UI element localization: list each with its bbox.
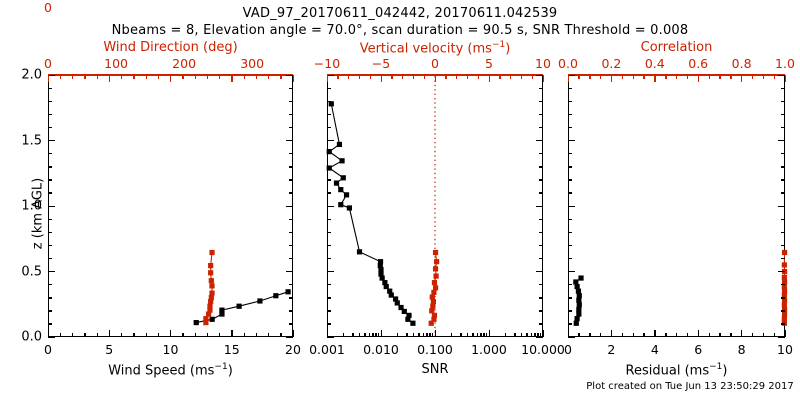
x-tick-bottom bbox=[268, 333, 269, 337]
y-tick bbox=[539, 192, 543, 193]
x-tick-bottom bbox=[477, 333, 478, 337]
x-tick-top bbox=[698, 75, 699, 82]
x-tick-bottom bbox=[687, 333, 688, 337]
x-tick-top bbox=[391, 75, 392, 79]
y-tick bbox=[48, 284, 52, 285]
y-tick bbox=[781, 179, 785, 180]
y-tick bbox=[568, 114, 572, 115]
x-tick-bottom bbox=[133, 333, 134, 337]
y-tick bbox=[286, 206, 293, 207]
y-tick bbox=[539, 297, 543, 298]
x-tick-bottom bbox=[521, 333, 522, 337]
x-tick-top bbox=[72, 75, 73, 79]
x-tick-bottom bbox=[375, 333, 376, 337]
y-tick bbox=[539, 153, 543, 154]
y-tick bbox=[568, 297, 572, 298]
x-tick-label-bottom: 10.000 bbox=[521, 342, 565, 357]
y-tick bbox=[568, 258, 572, 259]
y-tick bbox=[568, 166, 572, 167]
y-tick bbox=[327, 166, 331, 167]
x-tick-bottom bbox=[741, 330, 742, 337]
x-tick-top bbox=[785, 75, 786, 82]
y-tick bbox=[781, 153, 785, 154]
y-tick bbox=[286, 271, 293, 272]
x-tick-bottom bbox=[709, 333, 710, 337]
y-tick bbox=[48, 140, 55, 141]
y-tick bbox=[289, 166, 293, 167]
y-tick-label: 1.5 bbox=[6, 133, 42, 148]
x-tick-top bbox=[182, 75, 183, 79]
x-tick-bottom bbox=[109, 330, 110, 337]
x-axis-title-bottom: Residual (ms−1) bbox=[626, 362, 728, 378]
y-tick bbox=[289, 101, 293, 102]
x-tick-bottom bbox=[622, 333, 623, 337]
x-tick-label-top: 0.4 bbox=[645, 56, 665, 71]
x-tick-top bbox=[622, 75, 623, 79]
x-tick-label-top: 0 bbox=[44, 0, 52, 15]
x-tick-top bbox=[231, 75, 232, 82]
x-tick-bottom bbox=[654, 330, 655, 337]
x-tick-top bbox=[121, 75, 122, 79]
y-tick bbox=[48, 166, 52, 167]
x-tick-top bbox=[413, 75, 414, 79]
y-tick bbox=[289, 127, 293, 128]
y-tick bbox=[327, 75, 334, 76]
y-tick bbox=[539, 101, 543, 102]
y-tick bbox=[327, 192, 331, 193]
y-tick bbox=[539, 127, 543, 128]
y-tick bbox=[568, 206, 575, 207]
x-tick-bottom bbox=[730, 333, 731, 337]
x-tick-label-top: 100 bbox=[104, 56, 128, 71]
y-tick bbox=[781, 114, 785, 115]
x-tick-bottom bbox=[397, 333, 398, 337]
x-tick-top bbox=[268, 75, 269, 79]
y-tick bbox=[327, 284, 331, 285]
y-tick bbox=[568, 179, 572, 180]
x-tick-bottom bbox=[244, 333, 245, 337]
x-tick-bottom bbox=[219, 333, 220, 337]
x-tick-bottom bbox=[432, 333, 433, 337]
x-tick-bottom bbox=[381, 330, 382, 337]
x-tick-bottom bbox=[327, 330, 328, 337]
x-tick-top bbox=[499, 75, 500, 79]
y-tick bbox=[327, 245, 331, 246]
x-tick-bottom bbox=[60, 333, 61, 337]
x-tick-bottom bbox=[372, 333, 373, 337]
y-tick bbox=[48, 271, 55, 272]
y-tick bbox=[48, 127, 52, 128]
y-tick bbox=[781, 310, 785, 311]
x-tick-top bbox=[478, 75, 479, 79]
y-tick bbox=[781, 258, 785, 259]
x-tick-top bbox=[643, 75, 644, 79]
x-tick-top bbox=[60, 75, 61, 79]
panel-residual bbox=[568, 75, 785, 337]
x-tick-bottom bbox=[413, 333, 414, 337]
y-tick bbox=[781, 88, 785, 89]
x-tick-top bbox=[467, 75, 468, 79]
x-tick-top bbox=[568, 75, 569, 82]
x-tick-bottom bbox=[600, 333, 601, 337]
y-tick bbox=[327, 323, 331, 324]
y-tick bbox=[568, 219, 572, 220]
x-tick-top bbox=[280, 75, 281, 79]
x-tick-bottom bbox=[207, 333, 208, 337]
y-tick bbox=[568, 284, 572, 285]
y-tick bbox=[781, 232, 785, 233]
x-tick-bottom bbox=[467, 333, 468, 337]
y-tick bbox=[289, 192, 293, 193]
x-tick-top bbox=[532, 75, 533, 79]
x-tick-bottom bbox=[352, 333, 353, 337]
x-tick-top bbox=[424, 75, 425, 79]
y-tick bbox=[778, 271, 785, 272]
x-tick-top bbox=[146, 75, 147, 79]
x-axis-title-bottom: SNR bbox=[421, 362, 448, 377]
x-tick-label-top: 1.0 bbox=[775, 56, 795, 71]
y-tick bbox=[327, 127, 331, 128]
x-tick-label-bottom: 6 bbox=[694, 342, 702, 357]
y-tick bbox=[781, 192, 785, 193]
x-tick-top bbox=[763, 75, 764, 79]
y-tick bbox=[48, 101, 52, 102]
x-tick-top bbox=[456, 75, 457, 79]
y-tick bbox=[289, 88, 293, 89]
y-tick-label: 1.0 bbox=[6, 199, 42, 214]
x-tick-bottom bbox=[752, 333, 753, 337]
x-tick-top bbox=[687, 75, 688, 79]
x-tick-top bbox=[48, 75, 49, 82]
x-tick-label-bottom: 0.010 bbox=[363, 342, 399, 357]
x-tick-bottom bbox=[378, 333, 379, 337]
x-tick-top bbox=[510, 75, 511, 79]
x-tick-top bbox=[578, 75, 579, 79]
x-tick-bottom bbox=[676, 333, 677, 337]
y-tick bbox=[536, 271, 543, 272]
x-tick-bottom bbox=[486, 333, 487, 337]
x-tick-label-bottom: 5 bbox=[105, 342, 113, 357]
x-tick-bottom bbox=[589, 333, 590, 337]
x-tick-top bbox=[158, 75, 159, 79]
y-tick bbox=[781, 101, 785, 102]
x-tick-bottom bbox=[785, 330, 786, 337]
y-tick bbox=[327, 153, 331, 154]
y-tick bbox=[327, 232, 331, 233]
y-tick bbox=[48, 337, 55, 338]
y-tick bbox=[568, 127, 572, 128]
y-tick bbox=[781, 245, 785, 246]
x-tick-top bbox=[676, 75, 677, 79]
x-axis-title-top: Vertical velocity (ms−1) bbox=[360, 40, 511, 56]
x-tick-top bbox=[709, 75, 710, 79]
x-tick-bottom bbox=[195, 333, 196, 337]
y-tick bbox=[48, 75, 55, 76]
y-tick bbox=[289, 153, 293, 154]
x-tick-bottom bbox=[505, 333, 506, 337]
y-tick bbox=[539, 166, 543, 167]
x-tick-bottom bbox=[460, 333, 461, 337]
y-tick bbox=[781, 127, 785, 128]
x-tick-label-bottom: 2 bbox=[607, 342, 615, 357]
y-tick-label: 0.5 bbox=[6, 264, 42, 279]
y-tick bbox=[539, 323, 543, 324]
x-tick-bottom bbox=[293, 330, 294, 337]
y-tick bbox=[539, 114, 543, 115]
x-tick-label-bottom: 0 bbox=[564, 342, 572, 357]
x-tick-top bbox=[84, 75, 85, 79]
x-tick-top bbox=[244, 75, 245, 79]
x-tick-label-top: 10 bbox=[535, 56, 551, 71]
x-tick-bottom bbox=[231, 330, 232, 337]
x-tick-bottom bbox=[364, 333, 365, 337]
y-tick bbox=[48, 179, 52, 180]
x-tick-bottom bbox=[763, 333, 764, 337]
x-tick-top bbox=[170, 75, 171, 82]
x-tick-bottom bbox=[665, 333, 666, 337]
x-tick-bottom bbox=[343, 333, 344, 337]
y-tick bbox=[327, 337, 334, 338]
x-tick-top bbox=[359, 75, 360, 79]
x-tick-bottom bbox=[774, 333, 775, 337]
x-tick-top bbox=[109, 75, 110, 82]
x-tick-bottom bbox=[698, 330, 699, 337]
x-tick-top bbox=[752, 75, 753, 79]
y-tick bbox=[568, 323, 572, 324]
x-tick-bottom bbox=[158, 333, 159, 337]
x-tick-bottom bbox=[540, 333, 541, 337]
x-tick-bottom bbox=[418, 333, 419, 337]
x-tick-bottom bbox=[514, 333, 515, 337]
x-tick-bottom bbox=[534, 333, 535, 337]
x-tick-top bbox=[489, 75, 490, 82]
y-tick bbox=[539, 245, 543, 246]
y-tick bbox=[327, 88, 331, 89]
y-tick-label: 2.0 bbox=[6, 68, 42, 83]
x-tick-top bbox=[774, 75, 775, 79]
x-tick-bottom bbox=[429, 333, 430, 337]
y-tick bbox=[48, 245, 52, 246]
x-tick-label-top: 0.6 bbox=[688, 56, 708, 71]
x-tick-top bbox=[633, 75, 634, 79]
y-tick bbox=[289, 219, 293, 220]
x-tick-top bbox=[435, 75, 436, 82]
y-tick bbox=[289, 323, 293, 324]
x-tick-top bbox=[741, 75, 742, 82]
y-tick bbox=[327, 310, 331, 311]
x-tick-label-top: 0 bbox=[44, 56, 52, 71]
x-tick-bottom bbox=[531, 333, 532, 337]
x-tick-label-bottom: 10 bbox=[163, 342, 179, 357]
x-tick-bottom bbox=[146, 333, 147, 337]
x-tick-bottom bbox=[483, 333, 484, 337]
x-tick-label-top: 0.2 bbox=[601, 56, 621, 71]
x-tick-top bbox=[445, 75, 446, 79]
y-tick bbox=[48, 297, 52, 298]
y-tick bbox=[327, 297, 331, 298]
y-tick bbox=[327, 271, 334, 272]
x-tick-top bbox=[719, 75, 720, 79]
x-tick-top bbox=[611, 75, 612, 82]
y-tick bbox=[48, 232, 52, 233]
y-tick bbox=[568, 271, 575, 272]
y-tick bbox=[48, 323, 52, 324]
y-tick bbox=[539, 219, 543, 220]
y-tick bbox=[539, 179, 543, 180]
x-tick-bottom bbox=[359, 333, 360, 337]
y-tick bbox=[48, 310, 52, 311]
x-tick-bottom bbox=[48, 330, 49, 337]
x-tick-bottom bbox=[121, 333, 122, 337]
y-tick bbox=[568, 232, 572, 233]
y-tick bbox=[327, 219, 331, 220]
y-tick bbox=[327, 101, 331, 102]
y-tick bbox=[48, 114, 52, 115]
x-tick-top bbox=[327, 75, 328, 82]
x-tick-top bbox=[589, 75, 590, 79]
y-tick bbox=[568, 88, 572, 89]
x-tick-bottom bbox=[611, 330, 612, 337]
y-tick bbox=[539, 88, 543, 89]
y-tick bbox=[48, 88, 52, 89]
x-tick-top bbox=[256, 75, 257, 79]
x-tick-top bbox=[219, 75, 220, 79]
x-tick-top bbox=[133, 75, 134, 79]
x-tick-top bbox=[207, 75, 208, 79]
x-tick-top bbox=[348, 75, 349, 79]
x-tick-bottom bbox=[543, 330, 544, 337]
x-tick-top bbox=[381, 75, 382, 82]
x-tick-bottom bbox=[97, 333, 98, 337]
y-tick bbox=[327, 179, 331, 180]
x-tick-bottom bbox=[406, 333, 407, 337]
x-tick-label-bottom: 4 bbox=[651, 342, 659, 357]
y-tick bbox=[289, 179, 293, 180]
y-tick bbox=[781, 323, 785, 324]
y-tick bbox=[781, 297, 785, 298]
y-tick bbox=[781, 284, 785, 285]
x-tick-top bbox=[195, 75, 196, 79]
x-axis-title-top: Wind Direction (deg) bbox=[103, 40, 237, 55]
y-tick bbox=[536, 140, 543, 141]
y-tick bbox=[289, 284, 293, 285]
y-tick bbox=[568, 75, 575, 76]
x-tick-label-top: 0.0 bbox=[558, 56, 578, 71]
x-tick-bottom bbox=[719, 333, 720, 337]
x-tick-top bbox=[370, 75, 371, 79]
x-tick-bottom bbox=[643, 333, 644, 337]
x-tick-bottom bbox=[578, 333, 579, 337]
y-tick bbox=[778, 206, 785, 207]
x-tick-label-top: 0 bbox=[431, 56, 439, 71]
y-tick bbox=[327, 258, 331, 259]
x-tick-label-top: 5 bbox=[485, 56, 493, 71]
y-tick bbox=[48, 206, 55, 207]
y-tick bbox=[568, 153, 572, 154]
plot-created-timestamp: Plot created on Tue Jun 13 23:50:29 2017 bbox=[586, 381, 793, 392]
panel-wind bbox=[48, 75, 293, 337]
y-tick bbox=[327, 140, 334, 141]
x-tick-bottom bbox=[426, 333, 427, 337]
x-tick-top bbox=[730, 75, 731, 79]
page-title: VAD_97_20170611_042442, 20170611.042539 bbox=[243, 6, 558, 21]
x-tick-label-bottom: 0 bbox=[44, 342, 52, 357]
x-tick-label-top: −10 bbox=[314, 56, 340, 71]
x-tick-bottom bbox=[369, 333, 370, 337]
x-tick-bottom bbox=[170, 330, 171, 337]
y-tick bbox=[289, 114, 293, 115]
x-tick-bottom bbox=[472, 333, 473, 337]
y-tick bbox=[568, 310, 572, 311]
y-tick bbox=[539, 284, 543, 285]
y-tick bbox=[539, 310, 543, 311]
x-tick-label-bottom: 15 bbox=[224, 342, 240, 357]
x-tick-bottom bbox=[280, 333, 281, 337]
y-tick bbox=[48, 219, 52, 220]
x-tick-label-bottom: 1.000 bbox=[471, 342, 507, 357]
x-tick-label-bottom: 20 bbox=[285, 342, 301, 357]
y-tick bbox=[781, 219, 785, 220]
y-tick bbox=[289, 232, 293, 233]
x-tick-bottom bbox=[256, 333, 257, 337]
x-tick-bottom bbox=[435, 330, 436, 337]
y-tick bbox=[289, 297, 293, 298]
x-tick-bottom bbox=[480, 333, 481, 337]
x-tick-top bbox=[654, 75, 655, 82]
x-tick-label-top: 200 bbox=[172, 56, 196, 71]
y-tick bbox=[568, 140, 575, 141]
y-tick bbox=[568, 245, 572, 246]
y-tick bbox=[286, 140, 293, 141]
x-tick-top bbox=[600, 75, 601, 79]
x-tick-top bbox=[543, 75, 544, 82]
y-tick bbox=[48, 153, 52, 154]
y-tick-label: 0.0 bbox=[6, 330, 42, 345]
panel-snr bbox=[327, 75, 543, 337]
y-tick bbox=[327, 206, 334, 207]
x-tick-label-top: 300 bbox=[240, 56, 264, 71]
x-tick-bottom bbox=[72, 333, 73, 337]
x-tick-label-top: −5 bbox=[372, 56, 390, 71]
x-tick-top bbox=[521, 75, 522, 79]
x-tick-top bbox=[293, 75, 294, 82]
x-tick-bottom bbox=[451, 333, 452, 337]
x-tick-top bbox=[97, 75, 98, 79]
y-tick bbox=[536, 206, 543, 207]
y-tick bbox=[781, 166, 785, 167]
y-tick bbox=[48, 258, 52, 259]
x-tick-bottom bbox=[84, 333, 85, 337]
x-tick-bottom bbox=[423, 333, 424, 337]
y-tick bbox=[539, 258, 543, 259]
y-tick bbox=[568, 101, 572, 102]
y-tick bbox=[289, 310, 293, 311]
vad-plot-figure: VAD_97_20170611_042442, 20170611.042539 … bbox=[0, 0, 800, 400]
x-tick-bottom bbox=[489, 330, 490, 337]
x-tick-label-bottom: 0.100 bbox=[417, 342, 453, 357]
x-tick-label-bottom: 8 bbox=[738, 342, 746, 357]
y-tick bbox=[778, 140, 785, 141]
x-tick-top bbox=[337, 75, 338, 79]
x-tick-bottom bbox=[633, 333, 634, 337]
x-tick-bottom bbox=[537, 333, 538, 337]
x-tick-label-top: 0.8 bbox=[732, 56, 752, 71]
x-axis-title-bottom: Wind Speed (ms−1) bbox=[108, 362, 233, 378]
y-tick bbox=[568, 192, 572, 193]
x-tick-label-bottom: 10 bbox=[777, 342, 793, 357]
y-tick bbox=[289, 258, 293, 259]
y-tick bbox=[289, 245, 293, 246]
